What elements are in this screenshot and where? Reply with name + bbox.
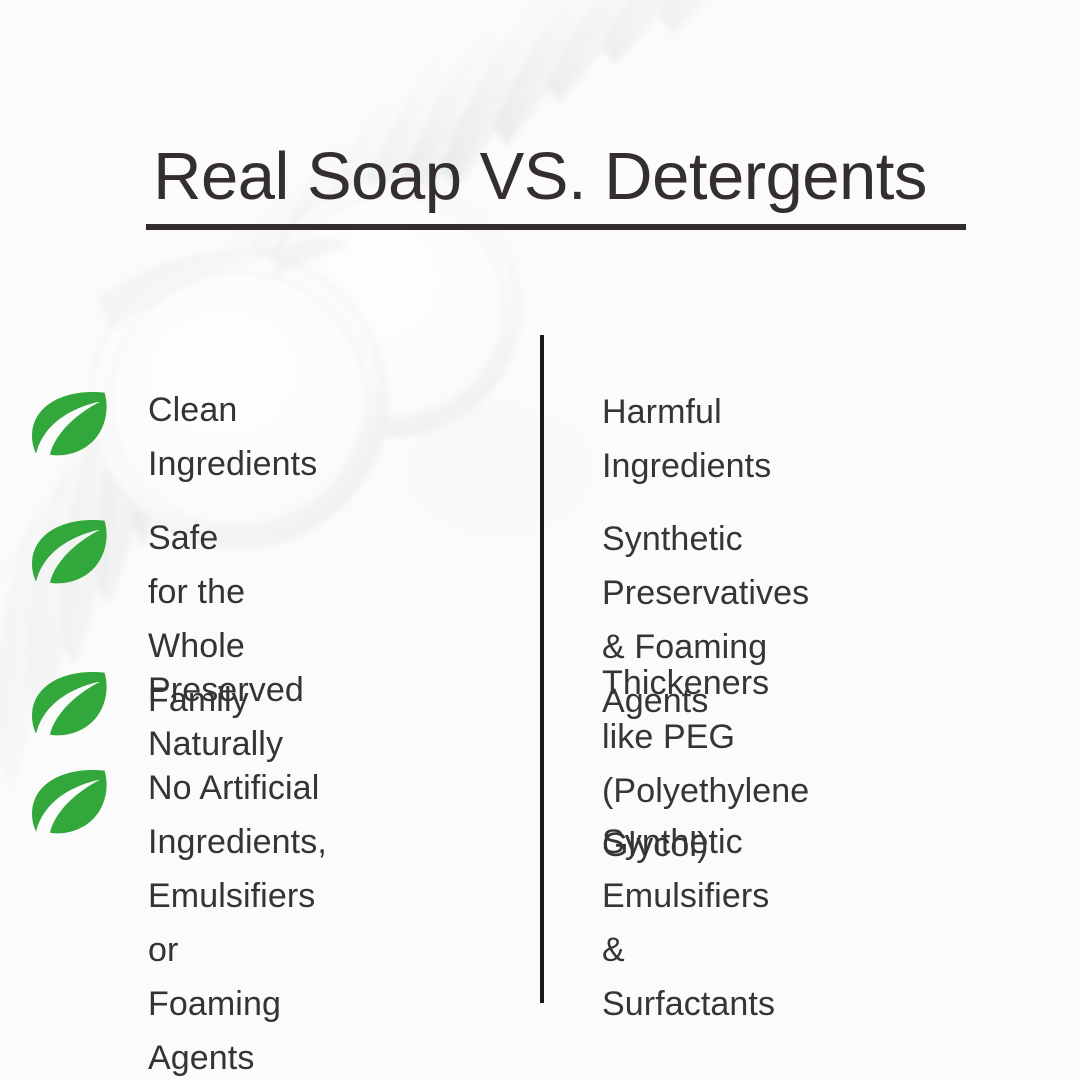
title-underline — [146, 224, 966, 230]
list-item-label: Preserved Naturally — [148, 663, 304, 771]
page-title-text: Real Soap VS. Detergents — [153, 143, 927, 210]
list-item-label: Synthetic Emulsifiers & Surfactants — [602, 815, 775, 1031]
leaf-icon — [30, 768, 110, 834]
leaf-icon — [30, 390, 110, 456]
comparison-infographic: Real Soap VS. Detergents Clean Ingredien… — [0, 0, 1080, 1080]
leaf-icon — [30, 518, 110, 584]
list-item-label: Clean Ingredients — [148, 383, 317, 491]
column-divider — [540, 335, 544, 1003]
list-item-label: Harmful Ingredients — [602, 385, 771, 493]
page-title: Real Soap VS. Detergents — [0, 143, 1080, 210]
list-item-label: No Artificial Ingredients, Emulsifiers o… — [148, 761, 327, 1080]
leaf-icon — [30, 670, 110, 736]
